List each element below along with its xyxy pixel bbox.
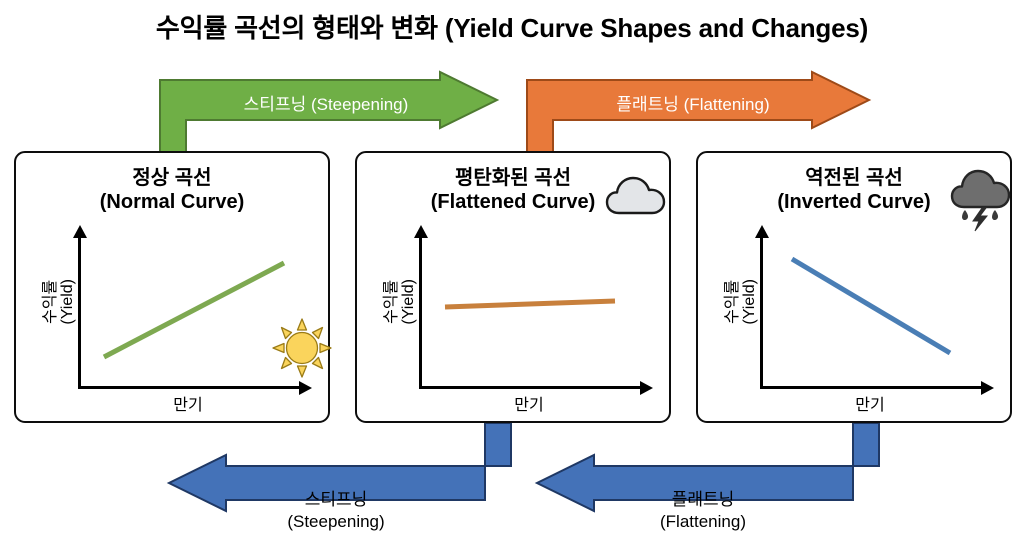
- arrow-label-flattening-bottom-ko: 플래트닝: [672, 490, 735, 509]
- arrow-flattening-top: [527, 72, 869, 158]
- arrow-label-steepening-bottom: 스티프닝 (Steepening): [186, 489, 486, 533]
- arrow-label-flattening-bottom: 플래트닝 (Flattening): [553, 489, 853, 533]
- plot-flattened: 수익률 (Yield) 만기: [357, 153, 673, 425]
- card-flattened-curve[interactable]: 평탄화된 곡선 (Flattened Curve) 수익률 (Yield) 만기: [355, 151, 671, 423]
- plot-normal: 수익률 (Yield) 만기: [16, 153, 332, 425]
- curve-flattened: [357, 153, 673, 425]
- card-inverted-curve[interactable]: 역전된 곡선 (Inverted Curve) 수익률 (Yield) 만기: [696, 151, 1012, 423]
- curve-normal: [16, 153, 332, 425]
- card-normal-curve[interactable]: 정상 곡선 (Normal Curve) 수익: [14, 151, 330, 423]
- arrow-steepening-top: [160, 72, 497, 158]
- arrow-label-flattening-bottom-en: (Flattening): [553, 511, 853, 533]
- diagram-canvas: 수익률 곡선의 형태와 변화 (Yield Curve Shapes and C…: [0, 0, 1024, 559]
- curve-inverted: [698, 153, 1014, 425]
- arrow-label-steepening-bottom-ko: 스티프닝: [305, 490, 368, 509]
- plot-inverted: 수익률 (Yield) 만기: [698, 153, 1014, 425]
- arrow-label-flattening-top: 플래트닝 (Flattening): [553, 90, 833, 115]
- arrow-label-steepening-top: 스티프닝 (Steepening): [186, 90, 466, 115]
- arrow-label-steepening-bottom-en: (Steepening): [186, 511, 486, 533]
